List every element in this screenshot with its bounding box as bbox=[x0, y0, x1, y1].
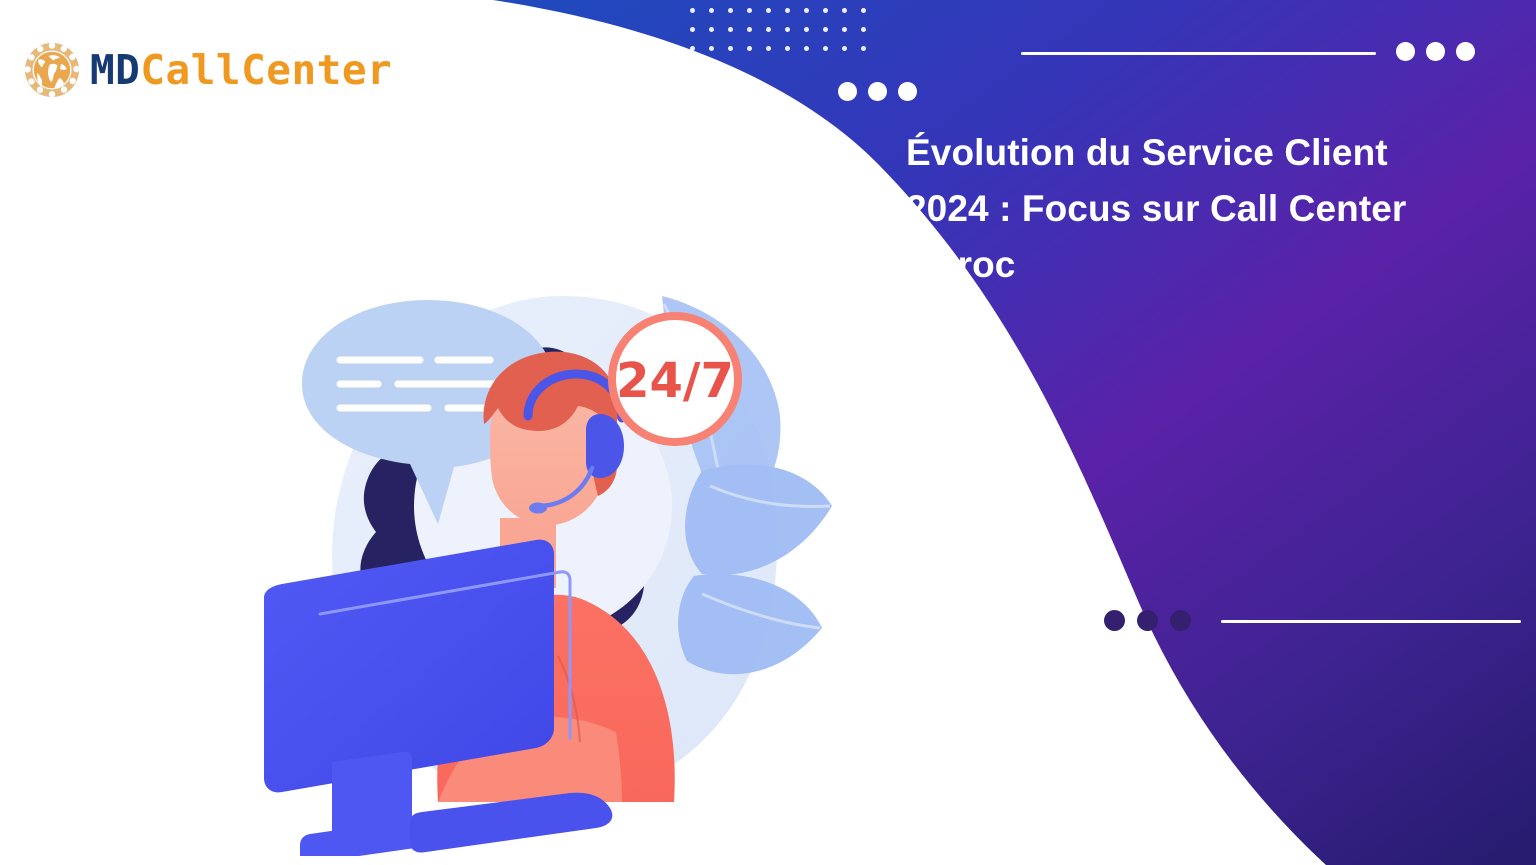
dot bbox=[1426, 42, 1445, 61]
brand-wordmark: MDCallCenter bbox=[90, 50, 392, 91]
dot-grid bbox=[690, 8, 880, 65]
brand-logo[interactable]: MDCallCenter bbox=[24, 42, 392, 98]
call-center-agent-illustration: 24/7 bbox=[232, 256, 852, 856]
dot bbox=[1170, 610, 1191, 631]
dot bbox=[1396, 42, 1415, 61]
rule-bottom bbox=[1221, 620, 1521, 623]
dot bbox=[1104, 610, 1125, 631]
page-title: Évolution du Service Client 2024 : Focus… bbox=[906, 125, 1466, 294]
banner-canvas: MDCallCenter Évolution du Service Client… bbox=[0, 0, 1536, 865]
brand-name-primary: MD bbox=[90, 46, 140, 94]
globe-icon bbox=[24, 42, 80, 98]
dot bbox=[868, 82, 887, 101]
dot bbox=[898, 82, 917, 101]
dot-trio-bottom bbox=[1104, 610, 1191, 631]
rule-top bbox=[1021, 52, 1376, 55]
brand-name-secondary: CallCenter bbox=[140, 46, 392, 94]
dot bbox=[1137, 610, 1158, 631]
dot-trio-top-right bbox=[1396, 42, 1475, 61]
dot bbox=[1456, 42, 1475, 61]
badge-label: 24/7 bbox=[616, 353, 734, 409]
dot-trio-top-left bbox=[838, 82, 917, 101]
badge-24-7: 24/7 bbox=[612, 316, 738, 442]
dot bbox=[838, 82, 857, 101]
